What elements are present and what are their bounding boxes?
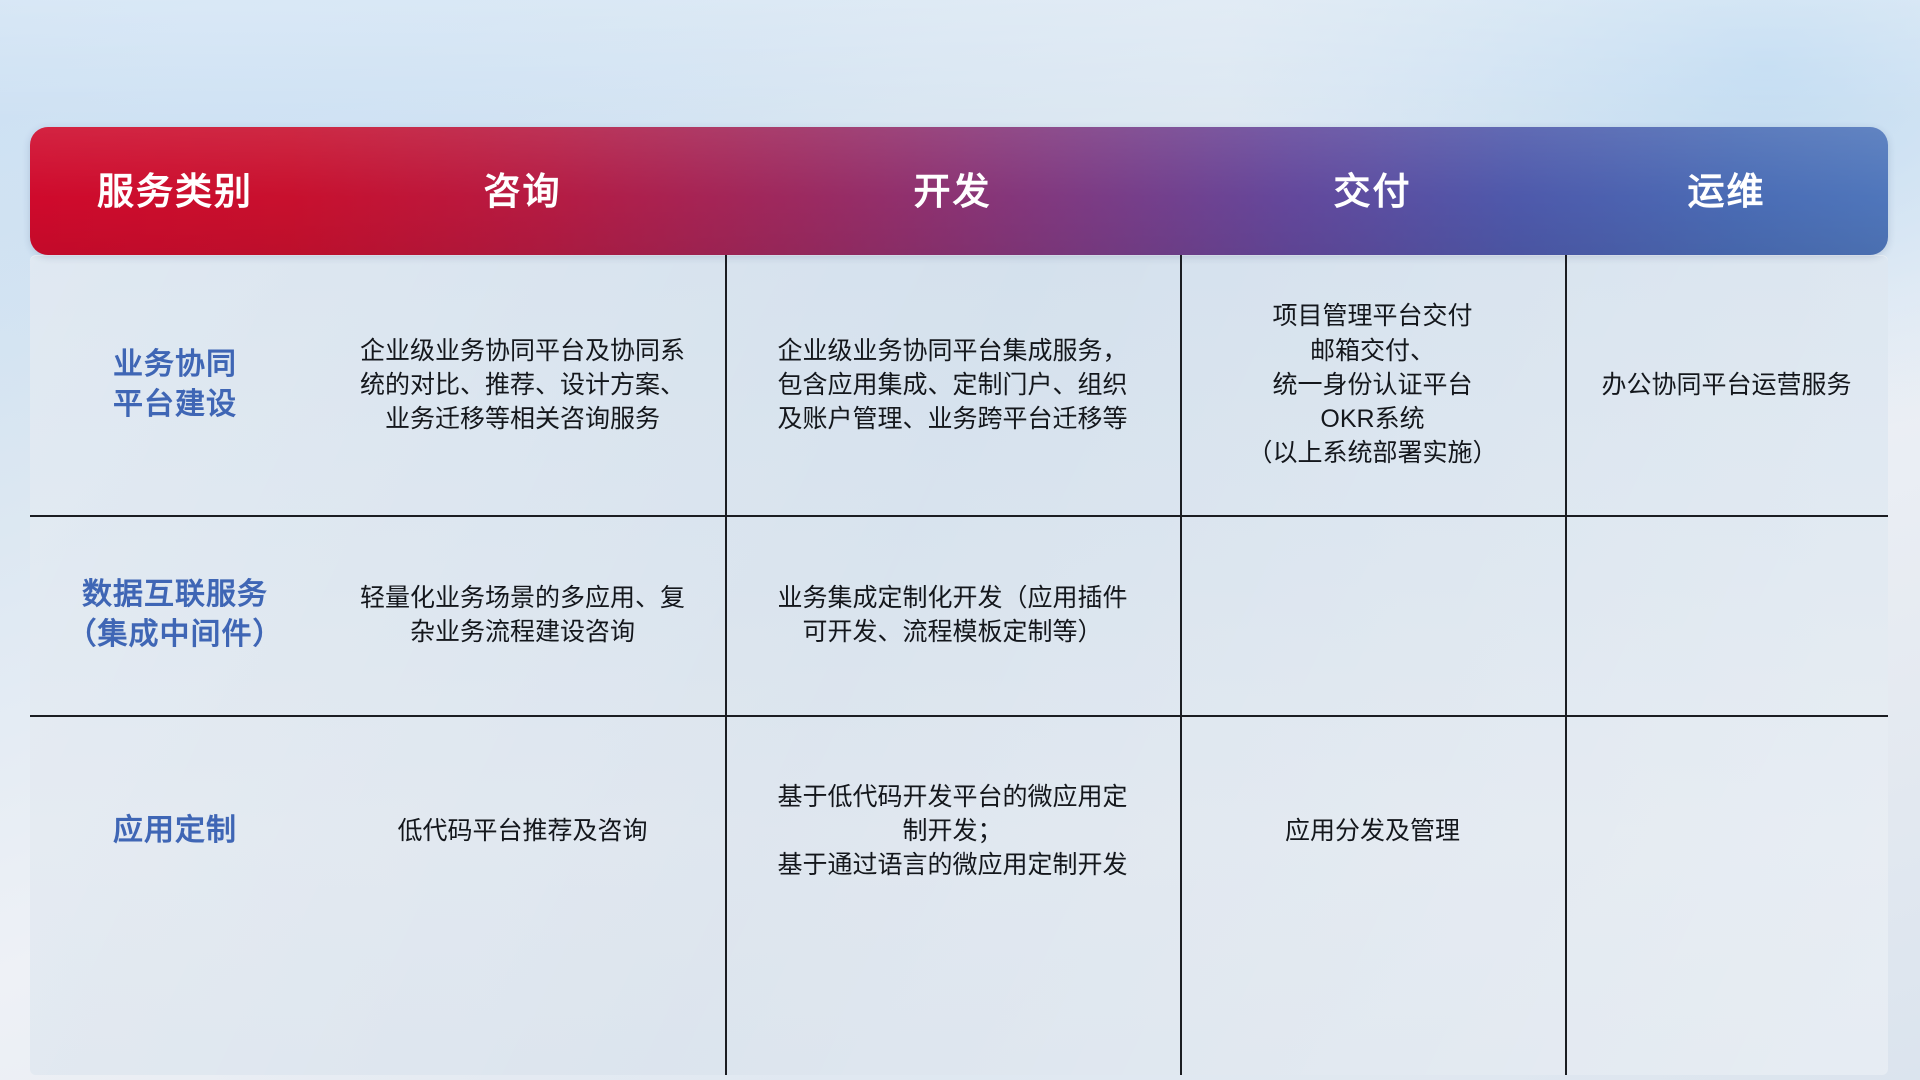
- cell-category: 业务协同 平台建设: [30, 255, 320, 515]
- cell-text: 企业级业务协同平台集成服务， 包含应用集成、定制门户、组织 及账户管理、业务跨平…: [777, 334, 1127, 437]
- row-divider: [30, 715, 1888, 717]
- cell-operations: [1565, 715, 1888, 947]
- header-cell-development: 开发: [725, 173, 1180, 210]
- cell-text: 应用分发及管理: [1285, 814, 1460, 848]
- column-divider: [1180, 255, 1182, 1075]
- cell-consulting: 企业级业务协同平台及协同系 统的对比、推荐、设计方案、 业务迁移等相关咨询服务: [320, 255, 725, 515]
- cell-development: 基于低代码开发平台的微应用定 制开发； 基于通过语言的微应用定制开发: [725, 715, 1180, 947]
- cell-category: 应用定制: [30, 715, 320, 947]
- cell-text: 低代码平台推荐及咨询: [397, 814, 647, 848]
- cell-text: 数据互联服务 （集成中间件）: [67, 575, 284, 655]
- cell-text: 办公协同平台运营服务: [1601, 368, 1851, 402]
- header-cell-operations: 运维: [1565, 173, 1888, 210]
- cell-text: 应用定制: [113, 811, 237, 851]
- cell-text: 业务集成定制化开发（应用插件 可开发、流程模板定制等）: [777, 581, 1127, 650]
- cell-text: 企业级业务协同平台及协同系 统的对比、推荐、设计方案、 业务迁移等相关咨询服务: [360, 334, 685, 437]
- cell-operations: [1565, 515, 1888, 715]
- column-divider: [725, 255, 727, 1075]
- row-divider: [30, 515, 1888, 517]
- cell-development: 企业级业务协同平台集成服务， 包含应用集成、定制门户、组织 及账户管理、业务跨平…: [725, 255, 1180, 515]
- cell-category: 数据互联服务 （集成中间件）: [30, 515, 320, 715]
- cell-delivery: [1180, 515, 1565, 715]
- cell-text: 业务协同 平台建设: [113, 345, 237, 425]
- table-row: 业务协同 平台建设 企业级业务协同平台及协同系 统的对比、推荐、设计方案、 业务…: [30, 255, 1888, 515]
- cell-development: 业务集成定制化开发（应用插件 可开发、流程模板定制等）: [725, 515, 1180, 715]
- cell-text: 基于低代码开发平台的微应用定 制开发； 基于通过语言的微应用定制开发: [777, 780, 1127, 883]
- background-sheen: [0, 0, 1920, 120]
- cell-operations: 办公协同平台运营服务: [1565, 255, 1888, 515]
- cell-text: 轻量化业务场景的多应用、复 杂业务流程建设咨询: [360, 581, 685, 650]
- cell-consulting: 低代码平台推荐及咨询: [320, 715, 725, 947]
- cell-delivery: 项目管理平台交付 邮箱交付、 统一身份认证平台 OKR系统 （以上系统部署实施）: [1180, 255, 1565, 515]
- header-cell-delivery: 交付: [1180, 173, 1565, 210]
- table-row: 数据互联服务 （集成中间件） 轻量化业务场景的多应用、复 杂业务流程建设咨询 业…: [30, 515, 1888, 715]
- table-header-row: 服务类别 咨询 开发 交付 运维: [30, 127, 1888, 255]
- cell-consulting: 轻量化业务场景的多应用、复 杂业务流程建设咨询: [320, 515, 725, 715]
- table-row: 应用定制 低代码平台推荐及咨询 基于低代码开发平台的微应用定 制开发； 基于通过…: [30, 715, 1888, 947]
- cell-delivery: 应用分发及管理: [1180, 715, 1565, 947]
- cell-text: 项目管理平台交付 邮箱交付、 统一身份认证平台 OKR系统 （以上系统部署实施）: [1247, 299, 1497, 470]
- service-matrix-table: 服务类别 咨询 开发 交付 运维 业务协同 平台建设 企业级业务协同平台及协同系…: [30, 127, 1888, 947]
- column-divider: [1565, 255, 1567, 1075]
- header-cell-consulting: 咨询: [320, 173, 725, 210]
- header-cell-category: 服务类别: [30, 173, 320, 210]
